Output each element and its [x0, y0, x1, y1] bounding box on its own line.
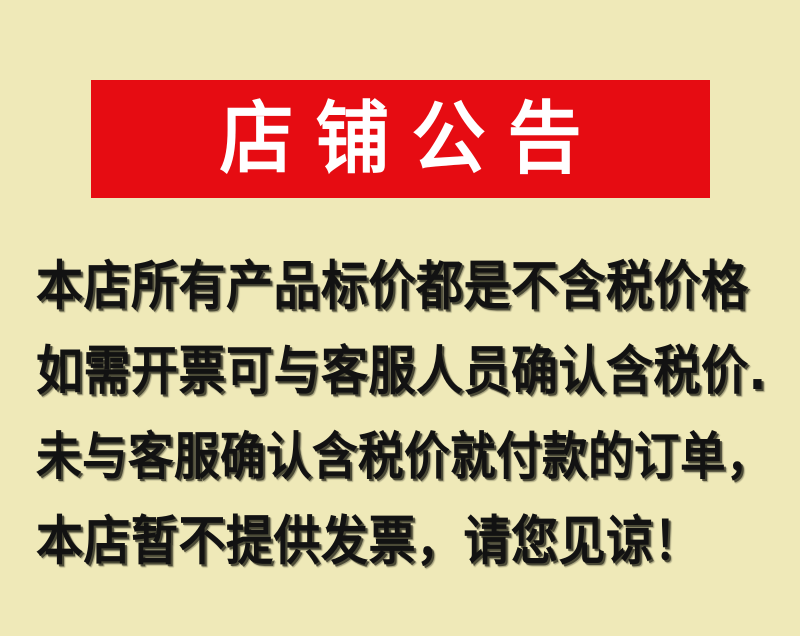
announcement-body: 本店所有产品标价都是不含税价格 如需开票可与客服人员确认含税价. 未与客服确认含… — [36, 244, 776, 584]
announcement-title: 店铺公告 — [198, 100, 604, 178]
announcement-line-4: 本店暂不提供发票，请您见谅！ — [36, 494, 776, 589]
announcement-line-3: 未与客服确认含税价就付款的订单， — [36, 409, 776, 504]
announcement-line-1: 本店所有产品标价都是不含税价格 — [36, 239, 776, 334]
announcement-title-banner: 店铺公告 — [91, 80, 710, 198]
announcement-line-2: 如需开票可与客服人员确认含税价. — [36, 324, 776, 419]
announcement-page: 店铺公告 本店所有产品标价都是不含税价格 如需开票可与客服人员确认含税价. 未与… — [0, 0, 800, 636]
